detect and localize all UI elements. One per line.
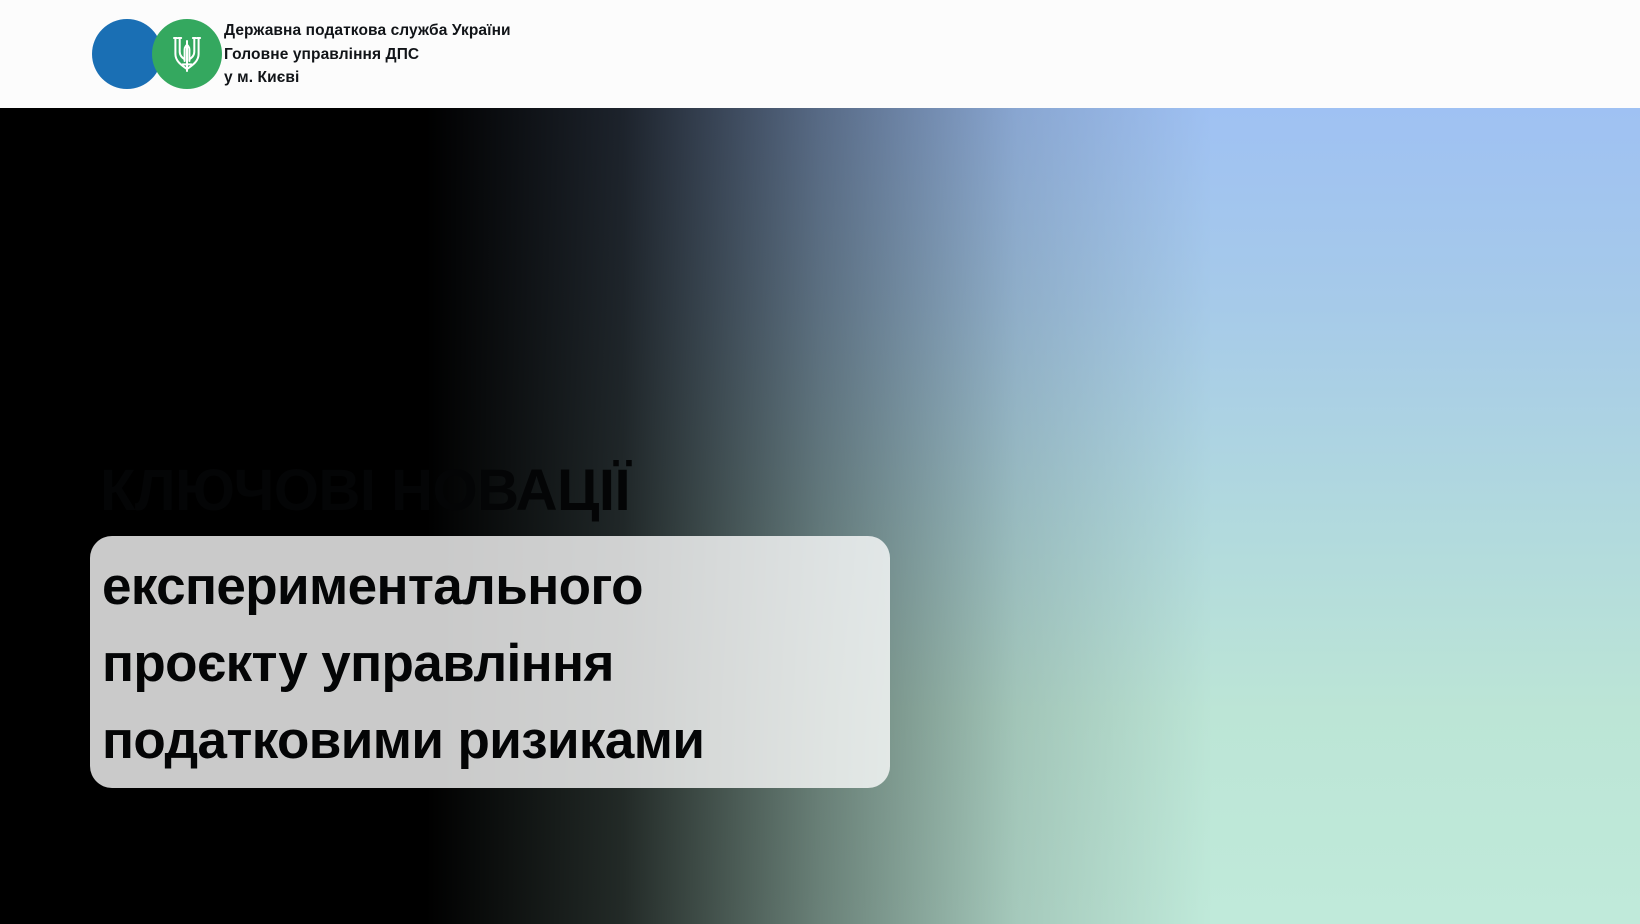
page-subtitle-line-1: експериментального [102,548,892,625]
ukraine-trident-icon [170,33,204,75]
site-header: Державна податкова служба України Головн… [0,0,1640,108]
green-circle-icon [152,19,222,89]
page-subtitle: експериментальногопроєкту управлінняпода… [102,548,892,779]
logo-marks [92,18,222,90]
page-root: Державна податкова служба України Головн… [0,0,1640,924]
department-line-1: Головне управління ДПС [224,43,511,66]
page-subtitle-line-2: проєкту управління [102,625,892,702]
brand-lockup[interactable]: Державна податкова служба України Головн… [92,18,511,90]
brand-text-block: Державна податкова служба України Головн… [224,19,511,89]
organization-name: Державна податкова служба України [224,19,511,43]
page-title: КЛЮЧОВІ НОВАЦІЇ [100,460,630,522]
department-line-2: у м. Києві [224,66,511,89]
hero-banner: +×÷%−·369000258147CEMU0-00MCON/CMR КЛЮЧО… [0,108,1640,924]
page-subtitle-line-3: податковими ризиками [102,702,892,779]
